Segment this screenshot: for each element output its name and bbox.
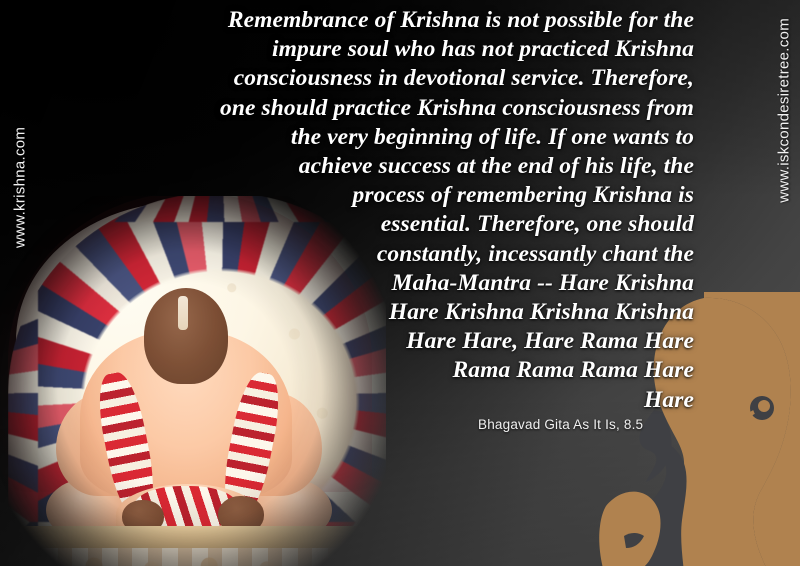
right-watermark-label: www.iskcondesiretree.com — [776, 18, 793, 203]
quote-poster: Remembrance of Krishna is not possible f… — [0, 0, 800, 566]
quote-citation: Bhagavad Gita As It Is, 8.5 — [478, 417, 643, 432]
left-watermark[interactable]: www.krishna.com — [10, 38, 30, 248]
quote-text: Remembrance of Krishna is not possible f… — [0, 6, 712, 415]
left-watermark-label: www.krishna.com — [12, 127, 29, 248]
right-watermark[interactable]: www.iskcondesiretree.com — [774, 18, 794, 258]
